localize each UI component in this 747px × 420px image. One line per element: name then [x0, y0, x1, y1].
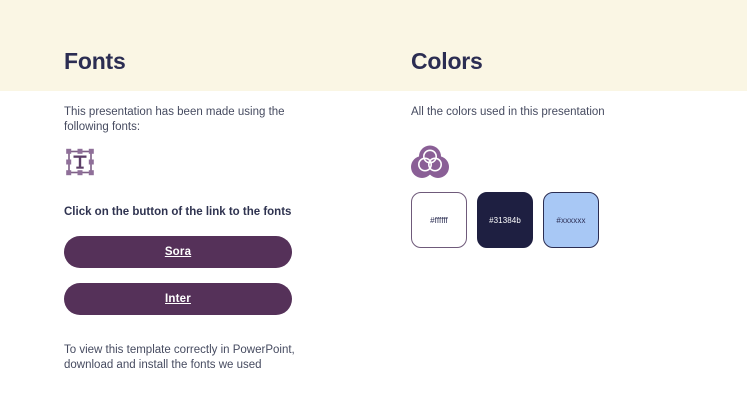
font-link-button-sora[interactable]: Sora [64, 236, 292, 268]
fonts-heading: Fonts [64, 50, 126, 73]
text-box-icon [64, 148, 96, 178]
color-swatch-label-navy: #31384b [489, 216, 521, 225]
font-link-button-inter[interactable]: Inter [64, 283, 292, 315]
fonts-instruction-text: Click on the button of the link to the f… [64, 205, 344, 220]
colors-heading: Colors [411, 50, 483, 73]
color-swatch-blue[interactable]: #xxxxxx [543, 192, 599, 248]
header-band [0, 0, 747, 91]
fonts-intro-text: This presentation has been made using th… [64, 105, 324, 135]
venn-diagram-icon [411, 143, 449, 179]
fonts-footer-text: To view this template correctly in Power… [64, 343, 339, 373]
color-swatch-label-white: #ffffff [430, 216, 448, 225]
font-link-label-inter: Inter [165, 293, 191, 305]
font-link-label-sora: Sora [165, 246, 191, 258]
colors-intro-text: All the colors used in this presentation [411, 105, 691, 120]
slide: Fonts This presentation has been made us… [0, 0, 747, 420]
color-swatch-white[interactable]: #ffffff [411, 192, 467, 248]
color-swatch-row: #ffffff #31384b #xxxxxx [411, 192, 599, 248]
color-swatch-label-blue: #xxxxxx [556, 216, 585, 225]
color-swatch-navy[interactable]: #31384b [477, 192, 533, 248]
